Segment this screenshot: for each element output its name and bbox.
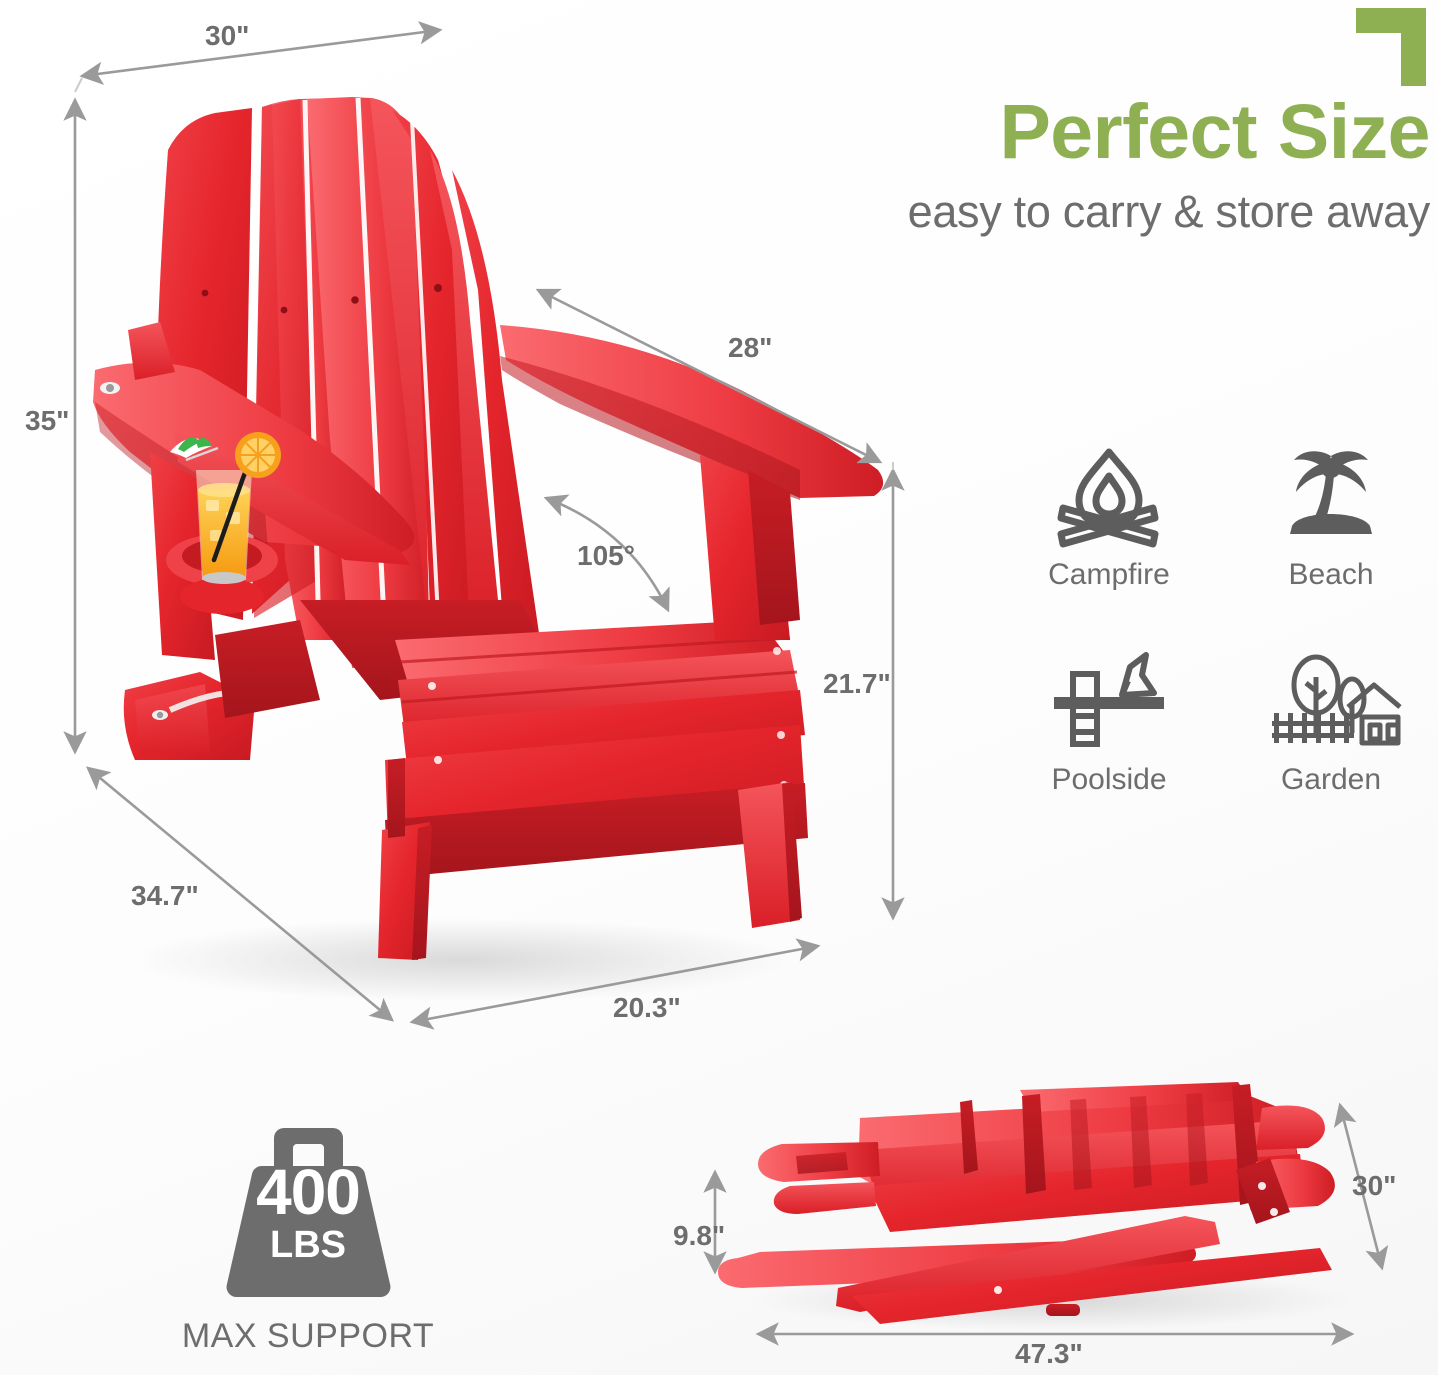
- feature-campfire: Campfire: [1000, 440, 1218, 635]
- campfire-icon: [1053, 440, 1165, 552]
- chair-legs-and-base: [124, 620, 802, 960]
- feature-garden: Garden: [1222, 645, 1438, 840]
- product-infographic: Perfect Size easy to carry & store away: [0, 0, 1438, 1375]
- dim-label-width-top: 30": [205, 20, 249, 52]
- dim-line-arm: [538, 290, 880, 462]
- weight-caption: MAX SUPPORT: [148, 1317, 468, 1356]
- dim-label-folded-height: 9.8": [673, 1220, 725, 1252]
- page-subtitle: easy to carry & store away: [740, 188, 1430, 235]
- dim-line-width-top: [82, 30, 440, 76]
- dim-label-arm-length: 28": [728, 332, 772, 364]
- dim-label-height-left: 35": [25, 405, 69, 437]
- cup-holder-and-drink: [166, 432, 281, 614]
- weight-unit: LBS: [206, 1226, 411, 1264]
- garden-house-icon: [1266, 645, 1396, 757]
- feature-beach: Beach: [1222, 440, 1438, 635]
- palm-tree-icon: [1276, 440, 1386, 552]
- poolside-deck-icon: [1050, 645, 1168, 757]
- dim-label-seat-height: 21.7": [823, 668, 891, 700]
- feature-poolside: Poolside: [1000, 645, 1218, 840]
- use-case-feature-grid: Campfire Beach: [1000, 440, 1438, 840]
- dim-label-back-angle: 105°: [577, 540, 635, 572]
- corner-bracket-decoration: [1356, 8, 1426, 86]
- chair-seat-frame: [300, 600, 808, 878]
- chair-arms: [93, 322, 883, 660]
- dim-label-folded-length: 47.3": [1015, 1338, 1083, 1370]
- dim-label-depth: 20.3": [613, 992, 681, 1024]
- dim-label-diagonal: 34.7": [131, 880, 199, 912]
- feature-label: Beach: [1288, 558, 1373, 592]
- feature-label: Garden: [1281, 763, 1381, 797]
- headline-block: Perfect Size easy to carry & store away: [740, 95, 1430, 236]
- max-support-badge: 400 LBS MAX SUPPORT: [148, 1122, 468, 1356]
- weight-value: 400: [206, 1160, 411, 1224]
- page-title: Perfect Size: [740, 95, 1430, 170]
- feature-label: Campfire: [1048, 558, 1170, 592]
- dim-label-folded-width: 30": [1352, 1170, 1396, 1202]
- chair-back-slats: [156, 97, 541, 668]
- feature-label: Poolside: [1051, 763, 1166, 797]
